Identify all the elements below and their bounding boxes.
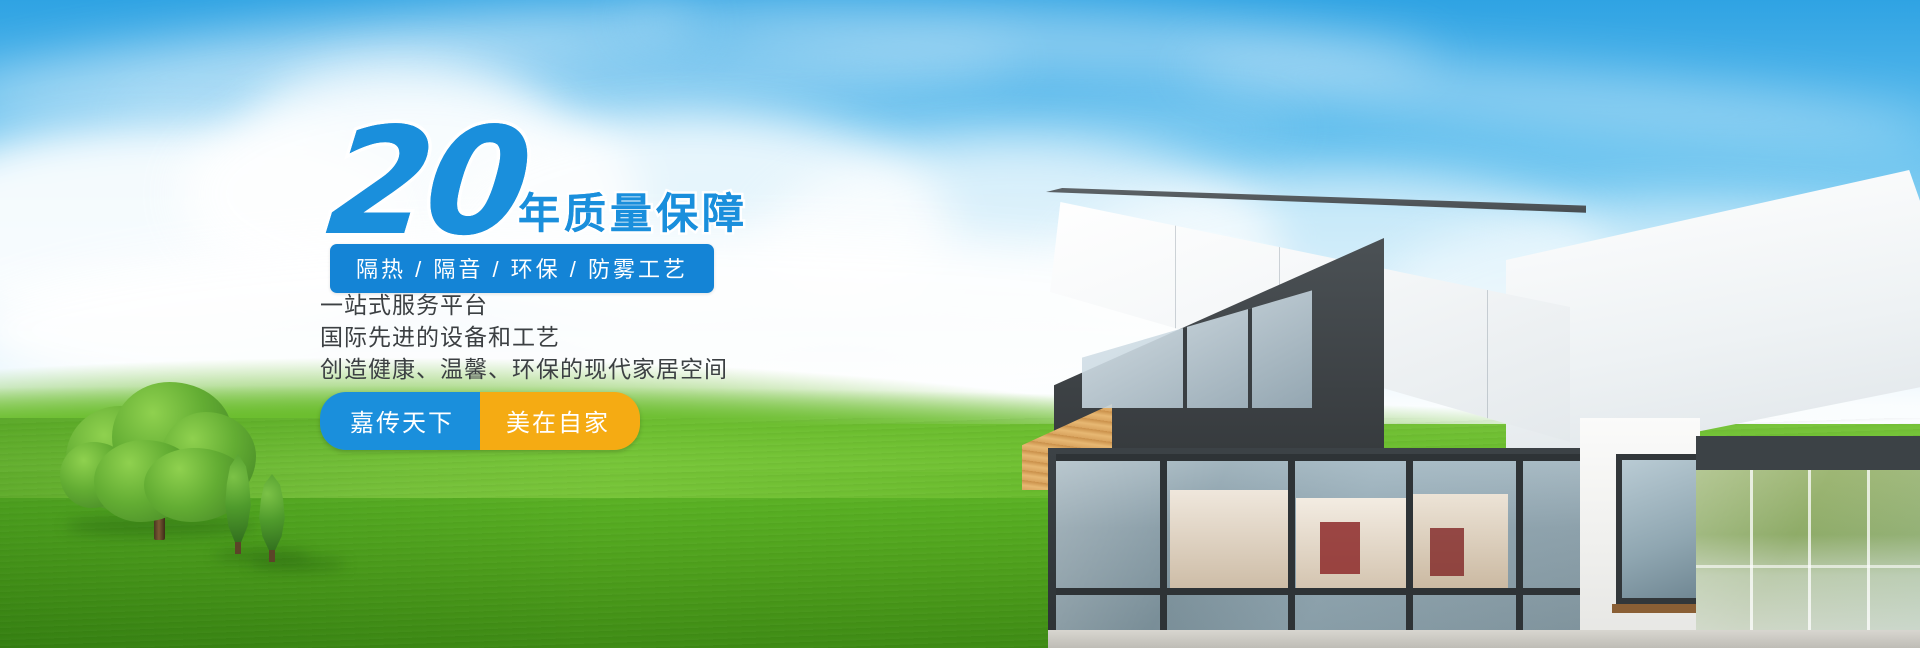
years-number: 20 — [322, 108, 532, 256]
house-foundation — [1048, 630, 1920, 648]
banner-content: 20 20 年质量保障 年质量保障 隔热 / 隔音 / 环保 / 防雾工艺 一站… — [0, 0, 900, 648]
description-block: 一站式服务平台 国际先进的设备和工艺 创造健康、温馨、环保的现代家居空间 — [320, 290, 728, 386]
interior-view — [1170, 490, 1290, 590]
glass-sunroom-house — [1020, 118, 1920, 648]
slogan-button-group[interactable]: 嘉传天下 美在自家 — [320, 392, 640, 450]
features-pill: 隔热 / 隔音 / 环保 / 防雾工艺 — [330, 244, 714, 293]
quality-guarantee-text: 年质量保障 — [518, 180, 748, 241]
slogan-button-right[interactable]: 美在自家 — [480, 392, 640, 450]
interior-furniture — [1430, 528, 1464, 576]
promo-banner: 20 20 年质量保障 年质量保障 隔热 / 隔音 / 环保 / 防雾工艺 一站… — [0, 0, 1920, 648]
far-wing-glass — [1696, 470, 1920, 640]
interior-furniture — [1320, 522, 1360, 574]
description-line: 一站式服务平台 — [320, 290, 728, 320]
description-line: 创造健康、温馨、环保的现代家居空间 — [320, 354, 728, 384]
slogan-button-left[interactable]: 嘉传天下 — [320, 392, 480, 450]
description-line: 国际先进的设备和工艺 — [320, 322, 728, 352]
